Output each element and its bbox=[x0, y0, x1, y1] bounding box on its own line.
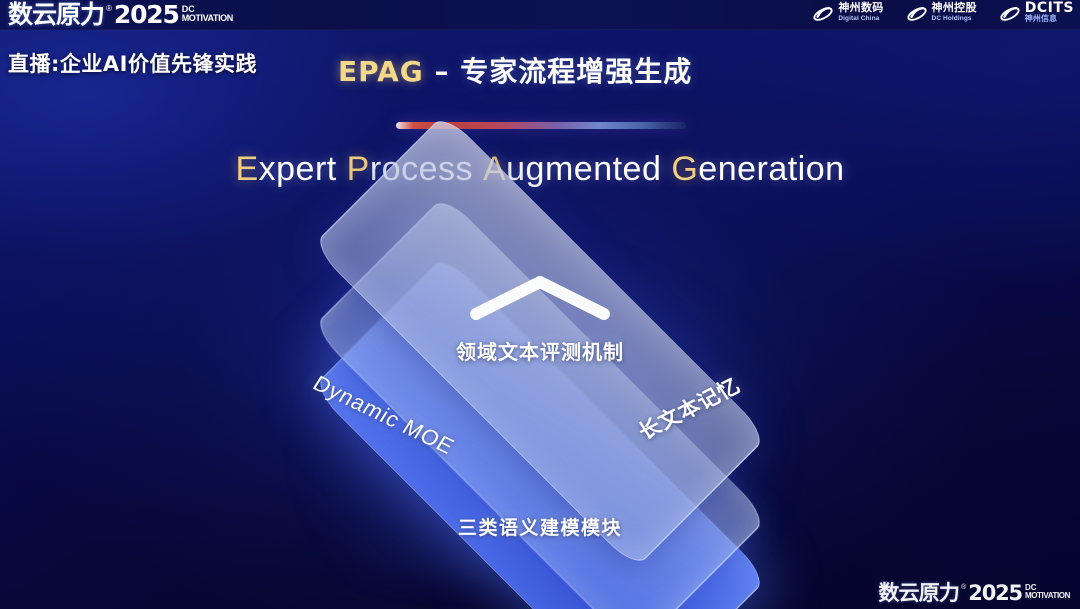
event-logo-cn: 数云原力 bbox=[8, 2, 104, 28]
subtitle-space bbox=[337, 150, 347, 188]
partner-logos: 神州数码 Digital China 神州控股 DC Holdings bbox=[812, 3, 1074, 24]
subtitle-word-1-cap: E bbox=[235, 150, 258, 188]
brand-digital-china: 神州数码 Digital China bbox=[812, 3, 883, 24]
brand-text: 神州数码 Digital China bbox=[838, 3, 883, 24]
subtitle-space bbox=[661, 150, 671, 188]
page-title-rest: – 专家流程增强生成 bbox=[424, 55, 693, 88]
brand-dcits: DCITS 神州信息 bbox=[999, 3, 1074, 24]
slide-canvas: 数云原力 ® 2025 DC MOTIVATION 神州数码 Digital C… bbox=[0, 0, 1080, 609]
swirl-icon bbox=[906, 4, 928, 24]
subtitle: Expert Process Augmented Generation bbox=[0, 150, 1080, 189]
event-logo-year: 2025 bbox=[114, 2, 179, 28]
brand-name-en: Digital China bbox=[838, 14, 883, 24]
diagram-bottom-layer-label: 三类语义建模模块 bbox=[0, 513, 1080, 540]
brand-text: 神州控股 DC Holdings bbox=[932, 3, 977, 24]
event-logo-dc: DC MOTIVATION bbox=[182, 5, 233, 22]
subtitle-word-1-rest: xpert bbox=[259, 150, 337, 188]
brand-dc-holdings: 神州控股 DC Holdings bbox=[906, 3, 977, 24]
diagram-top-layer-label: 领域文本评测机制 bbox=[0, 336, 1080, 365]
subtitle-word-3-rest: ugmented bbox=[506, 150, 661, 188]
subtitle-word-4-cap: G bbox=[671, 150, 698, 188]
brand-name-cn: 神州数码 bbox=[838, 3, 883, 13]
subtitle-word-4-rest: eneration bbox=[698, 150, 844, 188]
swirl-icon bbox=[812, 4, 834, 24]
page-title-accent: EPAG bbox=[338, 55, 424, 88]
page-title: EPAG – 专家流程增强生成 bbox=[338, 50, 692, 90]
brand-text: DCITS 神州信息 bbox=[1025, 3, 1074, 24]
event-logo-dc-line2: MOTIVATION bbox=[182, 14, 233, 23]
watermark-logo-dc-line2: MOTIVATION bbox=[1025, 592, 1070, 600]
top-bar: 数云原力 ® 2025 DC MOTIVATION 神州数码 Digital C… bbox=[0, 0, 1080, 30]
brand-name-cn: 神州控股 bbox=[932, 3, 977, 13]
swirl-icon bbox=[999, 4, 1021, 24]
registered-mark: ® bbox=[106, 4, 112, 14]
brand-name-cn: DCITS bbox=[1025, 3, 1074, 13]
watermark-registered-mark: ® bbox=[961, 584, 966, 592]
subtitle-word-2-cap: P bbox=[347, 150, 370, 188]
watermark-logo-year: 2025 bbox=[968, 582, 1022, 604]
brand-name-en: DC Holdings bbox=[932, 14, 977, 24]
layered-diagram: 领域文本评测机制 Dynamic MOE 长文本记忆 三类语义建模模块 bbox=[0, 0, 1080, 609]
watermark-logo-cn: 数云原力 bbox=[878, 582, 959, 604]
event-logo: 数云原力 ® 2025 DC MOTIVATION bbox=[8, 2, 233, 28]
watermark-logo: 数云原力 ® 2025 DC MOTIVATION bbox=[878, 582, 1070, 604]
live-label: 直播:企业AI价值先锋实践 bbox=[8, 48, 257, 78]
watermark-logo-dc: DC MOTIVATION bbox=[1025, 584, 1070, 599]
